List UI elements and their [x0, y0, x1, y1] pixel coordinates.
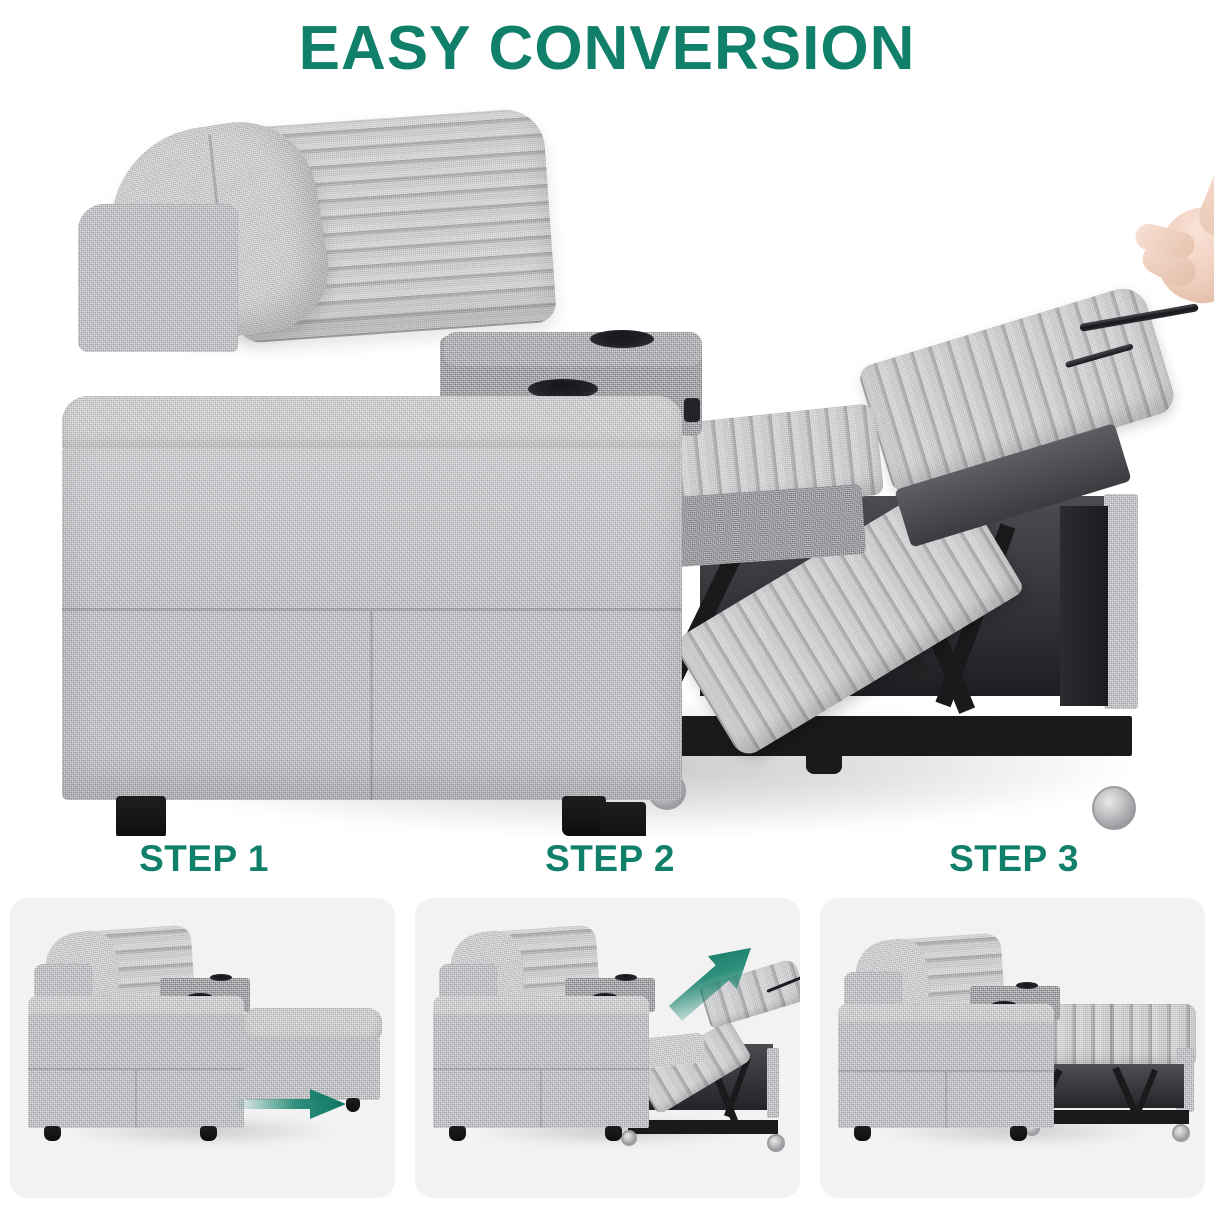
- cup-holder-rear: [590, 330, 654, 348]
- seat-base-dark-band: [662, 484, 866, 568]
- step-3-label: STEP 3: [818, 838, 1210, 880]
- step-2-arm-rail: [433, 996, 649, 1016]
- step-2-right-panel: [767, 1048, 779, 1118]
- side-body-seam-vertical: [370, 611, 373, 800]
- page-title: EASY CONVERSION: [0, 18, 1214, 80]
- step-3-frame-bottom-rail: [1031, 1110, 1189, 1124]
- step-2-foot-left: [449, 1126, 466, 1141]
- step-3-card[interactable]: [820, 898, 1205, 1198]
- step-3-caster-front: [1172, 1124, 1190, 1142]
- step-2-caster-front: [767, 1134, 785, 1152]
- step-1-body-seam-v: [135, 1070, 137, 1128]
- step-2-label: STEP 2: [414, 838, 806, 880]
- step-2-card[interactable]: [415, 898, 800, 1198]
- step-1-arrow-right-icon: [232, 1084, 352, 1124]
- caster-wheel-front: [1092, 786, 1136, 830]
- step-2-caster-rear: [621, 1130, 637, 1146]
- left-arm-inner: [78, 204, 238, 352]
- step-1-cup-holder-rear: [210, 974, 232, 981]
- step-3-foot-right: [1010, 1126, 1027, 1141]
- step-2-foot-right: [605, 1126, 622, 1141]
- sofa-foot-left: [116, 796, 166, 836]
- sofa-foot-right-b: [600, 802, 646, 836]
- step-1-card[interactable]: [10, 898, 395, 1198]
- console-side-button: [684, 398, 700, 422]
- step-3-bed-seam: [1110, 1004, 1112, 1066]
- human-hand: [1133, 166, 1214, 326]
- step-3-arm-rail: [838, 1004, 1054, 1024]
- step-2-frame-bottom-rail: [628, 1120, 778, 1134]
- step-2-body-seam-v: [540, 1070, 542, 1128]
- hero-product-image: [0, 96, 1214, 836]
- side-body-highlight: [62, 448, 682, 608]
- frame-bottom-rail-tab: [806, 754, 842, 774]
- console-top-ledge: [444, 332, 702, 366]
- conversion-steps: STEP 1 STEP 2 STEP 3: [0, 838, 1214, 1214]
- step-3-flat-bed-panel: [1036, 1004, 1196, 1066]
- step-1-foot-right: [200, 1126, 217, 1141]
- step-3-body-seam-v: [945, 1072, 947, 1128]
- step-3-foot-left: [854, 1126, 871, 1141]
- step-1-arm-rail: [28, 996, 244, 1016]
- step-3-cup-holder-rear: [1016, 982, 1038, 989]
- step-1-label: STEP 1: [8, 838, 400, 880]
- step-2-arrow-up-right-icon: [659, 930, 769, 1030]
- arm-top-rail: [62, 396, 682, 452]
- step-1-foot-left: [44, 1126, 61, 1141]
- step-2-cup-holder-rear: [615, 974, 637, 981]
